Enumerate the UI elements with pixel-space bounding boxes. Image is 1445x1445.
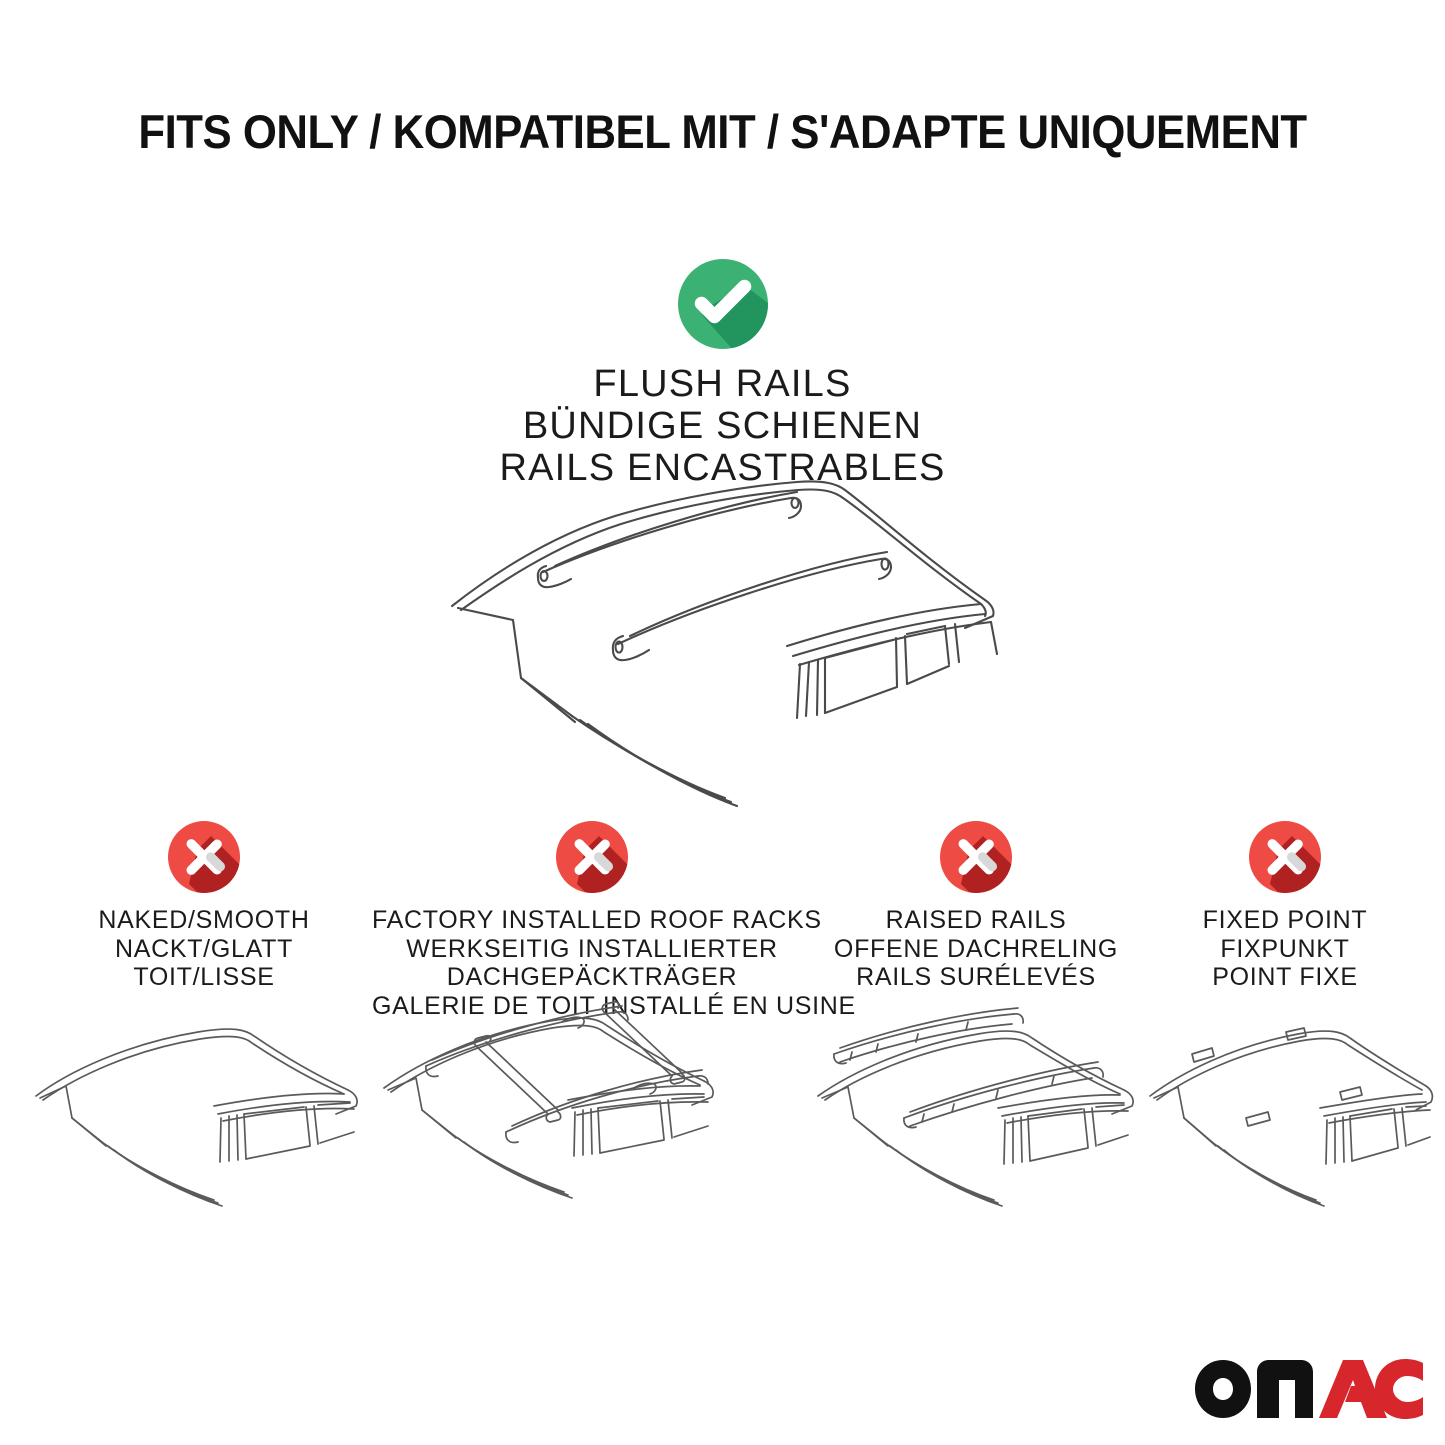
incompatible-label-en: RAISED RAILS — [806, 906, 1146, 935]
page-title: FITS ONLY / KOMPATIBEL MIT / S'ADAPTE UN… — [51, 104, 1395, 159]
car-roof-factory-installed-roof-racks-illustration — [372, 988, 812, 1218]
incompatible-item-raised-rails: RAISED RAILS OFFENE DACHRELING RAILS SUR… — [806, 820, 1146, 992]
omac-logo-letter-m — [1257, 1360, 1313, 1418]
incompatible-label-en: NAKED/SMOOTH — [18, 906, 390, 935]
omac-logo — [1193, 1358, 1425, 1422]
incompatible-labels: NAKED/SMOOTH NACKT/GLATT TOIT/LISSE — [18, 906, 390, 992]
incompatible-label-fr: RAILS SURÉLEVÉS — [806, 963, 1146, 992]
x-circle-icon — [167, 820, 241, 894]
incompatible-label-de: NACKT/GLATT — [18, 935, 390, 964]
incompatible-labels: RAISED RAILS OFFENE DACHRELING RAILS SUR… — [806, 906, 1146, 992]
car-roof-raised-rails-illustration — [806, 1000, 1146, 1220]
car-roof-with-flush-rails-illustration — [425, 468, 1025, 788]
incompatible-label-de: OFFENE DACHRELING — [806, 935, 1146, 964]
incompatible-label-en: FACTORY INSTALLED ROOF RACKS — [372, 906, 812, 935]
x-circle-icon — [1248, 820, 1322, 894]
car-roof-naked-smooth-illustration — [18, 1010, 390, 1220]
compatible-label-de: BÜNDIGE SCHIENEN — [0, 405, 1445, 447]
check-circle-icon — [674, 255, 772, 353]
incompatible-label-fr: POINT FIXE — [1140, 963, 1430, 992]
x-circle-icon — [555, 820, 629, 894]
incompatible-label-de-1: WERKSEITIG INSTALLIERTER — [372, 935, 812, 964]
incompatible-item-fixed-point: FIXED POINT FIXPUNKT POINT FIXE — [1140, 820, 1430, 992]
incompatible-item-naked-smooth: NAKED/SMOOTH NACKT/GLATT TOIT/LISSE — [18, 820, 390, 992]
car-roof-fixed-point-illustration — [1140, 1010, 1430, 1220]
incompatible-label-en: FIXED POINT — [1140, 906, 1430, 935]
x-circle-icon — [939, 820, 1013, 894]
incompatible-section: NAKED/SMOOTH NACKT/GLATT TOIT/LISSE — [0, 820, 1445, 1240]
incompatible-labels: FIXED POINT FIXPUNKT POINT FIXE — [1140, 906, 1430, 992]
compatible-section: FLUSH RAILS BÜNDIGE SCHIENEN RAILS ENCAS… — [0, 255, 1445, 489]
incompatible-label-fr: TOIT/LISSE — [18, 963, 390, 992]
incompatible-label-de: FIXPUNKT — [1140, 935, 1430, 964]
omac-logo-letter-o — [1195, 1360, 1251, 1418]
incompatible-item-factory-roof-racks: FACTORY INSTALLED ROOF RACKS WERKSEITIG … — [372, 820, 812, 1020]
compatible-label-en: FLUSH RAILS — [0, 363, 1445, 405]
